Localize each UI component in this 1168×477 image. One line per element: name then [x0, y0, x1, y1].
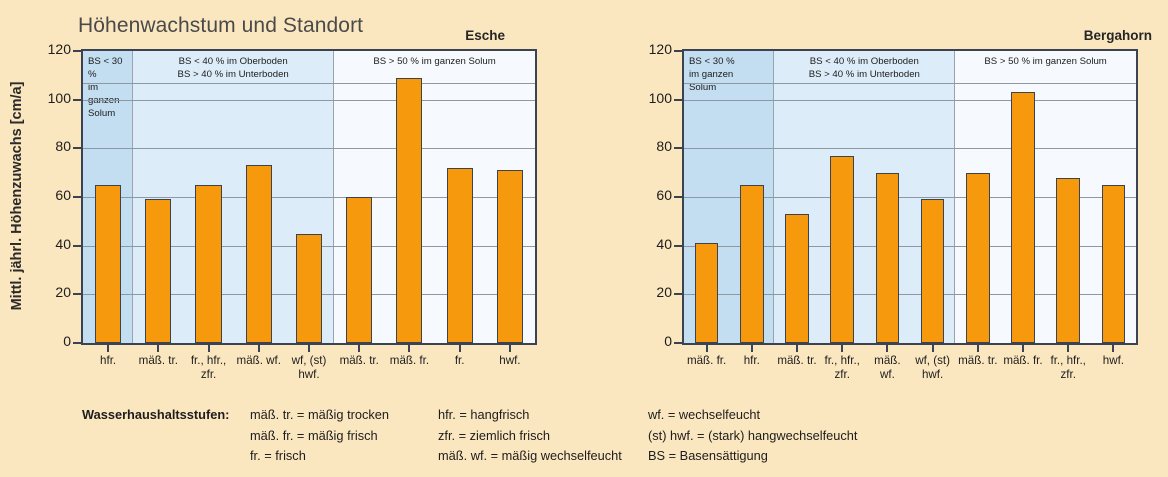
bar: [785, 214, 809, 343]
x-tick-mark: [977, 343, 979, 352]
band-label-separator: [684, 83, 1136, 84]
gridline-80: [83, 148, 535, 149]
bar: [966, 173, 990, 343]
bar: [246, 165, 272, 343]
y-tick-mark: [73, 342, 81, 344]
legend-entry: fr. = frisch: [250, 446, 389, 467]
x-axis-label: hwf.: [1070, 354, 1156, 368]
legend-entry: mäß. fr. = mäßig frisch: [250, 426, 389, 447]
y-tick-mark: [73, 99, 81, 101]
chart-esche: BS < 30 % im ganzen SolumBS < 40 % im Ob…: [0, 0, 600, 400]
x-axis-label: hwf.: [462, 354, 557, 368]
y-tick-mark: [674, 99, 682, 101]
y-tick-label: 60: [656, 187, 672, 203]
gridline-100: [83, 100, 535, 101]
bar: [447, 168, 473, 343]
y-tick-label: 20: [656, 284, 672, 300]
legend: Wasserhaushaltsstufen: mäß. tr. = mäßig …: [0, 405, 1168, 477]
bar: [145, 199, 171, 343]
plot-area-esche: BS < 30 % im ganzen SolumBS < 40 % im Ob…: [81, 49, 537, 345]
group-band-label-1: BS < 30 % im ganzen Solum: [684, 55, 773, 94]
y-tick-label: 40: [55, 236, 71, 252]
x-tick-mark: [308, 343, 310, 352]
group-band-label-2: BS < 40 % im Oberboden BS > 40 % im Unte…: [774, 55, 954, 81]
y-tick-mark: [674, 245, 682, 247]
bar: [396, 78, 422, 343]
legend-entry: mäß. wf. = mäßig wechselfeucht: [438, 446, 622, 467]
bar: [1011, 92, 1035, 343]
group-band-label-3: BS > 50 % im ganzen Solum: [334, 55, 535, 68]
x-tick-mark: [157, 343, 159, 352]
figure-root: Höhenwachstum und Standort Mittl. jährl.…: [0, 0, 1168, 477]
bar: [95, 185, 121, 343]
x-tick-mark: [886, 343, 888, 352]
gridline-80: [684, 148, 1136, 149]
y-tick-label: 100: [649, 90, 672, 106]
x-tick-mark: [706, 343, 708, 352]
y-tick-mark: [674, 147, 682, 149]
legend-entry: zfr. = ziemlich frisch: [438, 426, 622, 447]
group-band-label-3: BS > 50 % im ganzen Solum: [955, 55, 1136, 68]
bar: [296, 234, 322, 344]
y-tick-label: 80: [656, 138, 672, 154]
bar: [195, 185, 221, 343]
y-tick-mark: [73, 196, 81, 198]
bar: [740, 185, 764, 343]
y-tick-label: 100: [48, 90, 71, 106]
y-tick-mark: [674, 196, 682, 198]
x-tick-mark: [1067, 343, 1069, 352]
legend-entry: (st) hwf. = (stark) hangwechselfeucht: [648, 426, 857, 447]
chart-bergahorn: BS < 30 % im ganzen SolumBS < 40 % im Ob…: [630, 0, 1168, 400]
y-tick-mark: [674, 342, 682, 344]
y-tick-mark: [73, 147, 81, 149]
x-tick-mark: [751, 343, 753, 352]
y-tick-mark: [674, 50, 682, 52]
y-tick-mark: [73, 245, 81, 247]
bar: [695, 243, 719, 343]
x-tick-mark: [1112, 343, 1114, 352]
legend-entry: BS = Basensättigung: [648, 446, 857, 467]
x-tick-mark: [509, 343, 511, 352]
y-tick-mark: [674, 293, 682, 295]
x-tick-mark: [796, 343, 798, 352]
legend-entry: hfr. = hangfrisch: [438, 405, 622, 426]
plot-area-bergahorn: BS < 30 % im ganzen SolumBS < 40 % im Ob…: [682, 49, 1138, 345]
legend-entry: wf. = wechselfeucht: [648, 405, 857, 426]
legend-entry: mäß. tr. = mäßig trocken: [250, 405, 389, 426]
y-tick-label: 120: [48, 41, 71, 57]
gridline-100: [684, 100, 1136, 101]
x-tick-mark: [841, 343, 843, 352]
x-tick-mark: [408, 343, 410, 352]
bar: [497, 170, 523, 343]
y-tick-label: 20: [55, 284, 71, 300]
bar: [1056, 178, 1080, 343]
legend-column-1: mäß. tr. = mäßig trockenmäß. fr. = mäßig…: [250, 405, 389, 467]
x-tick-mark: [932, 343, 934, 352]
bar: [346, 197, 372, 343]
x-tick-mark: [208, 343, 210, 352]
x-tick-mark: [258, 343, 260, 352]
y-tick-mark: [73, 50, 81, 52]
bar: [1102, 185, 1126, 343]
y-tick-mark: [73, 293, 81, 295]
bar: [830, 156, 854, 343]
bar: [876, 173, 900, 343]
y-tick-label: 60: [55, 187, 71, 203]
legend-title: Wasserhaushaltsstufen:: [82, 405, 229, 426]
legend-column-2: hfr. = hangfrischzfr. = ziemlich frischm…: [438, 405, 622, 467]
y-tick-label: 0: [664, 333, 672, 349]
group-band-label-2: BS < 40 % im Oberboden BS > 40 % im Unte…: [133, 55, 333, 81]
bar: [921, 199, 945, 343]
legend-column-3: wf. = wechselfeucht(st) hwf. = (stark) h…: [648, 405, 857, 467]
x-tick-mark: [1022, 343, 1024, 352]
x-tick-mark: [107, 343, 109, 352]
x-tick-mark: [358, 343, 360, 352]
x-tick-mark: [459, 343, 461, 352]
group-band-label-1: BS < 30 % im ganzen Solum: [83, 55, 132, 120]
y-tick-label: 80: [55, 138, 71, 154]
y-tick-label: 40: [656, 236, 672, 252]
y-tick-label: 120: [649, 41, 672, 57]
band-label-separator: [83, 83, 535, 84]
y-tick-label: 0: [63, 333, 71, 349]
